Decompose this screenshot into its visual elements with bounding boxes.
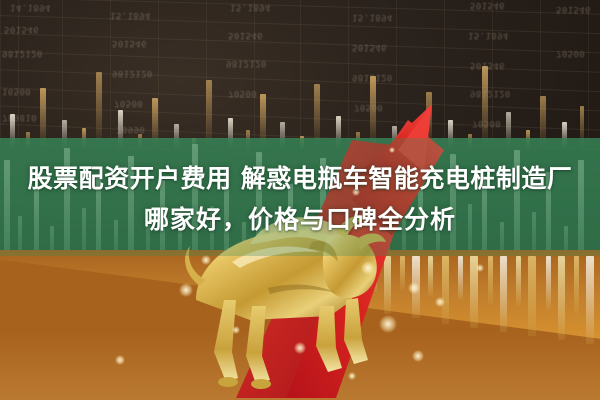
bokeh-dot [115, 355, 125, 365]
bokeh-dot [179, 283, 193, 297]
bokeh-dot [389, 147, 395, 153]
bokeh-dot [435, 297, 445, 307]
title-line-1: 股票配资开户费用 解惑电瓶车智能充电桩制造厂 [10, 158, 590, 199]
bokeh-dot [379, 315, 397, 333]
bokeh-dot [348, 372, 356, 380]
banner-image: 14.189450154698121201650078981015.189450… [0, 0, 600, 400]
bokeh-dot [412, 350, 424, 362]
bokeh-dot [476, 264, 484, 272]
bokeh-dot [294, 342, 306, 354]
banner-title: 股票配资开户费用 解惑电瓶车智能充电桩制造厂 哪家好，价格与口碑全分析 [0, 158, 600, 240]
bokeh-dot [232, 326, 240, 334]
title-line-2: 哪家好，价格与口碑全分析 [10, 199, 590, 240]
bokeh-dot [361, 261, 375, 275]
bokeh-dot [408, 282, 420, 294]
bokeh-dot [201, 255, 211, 265]
